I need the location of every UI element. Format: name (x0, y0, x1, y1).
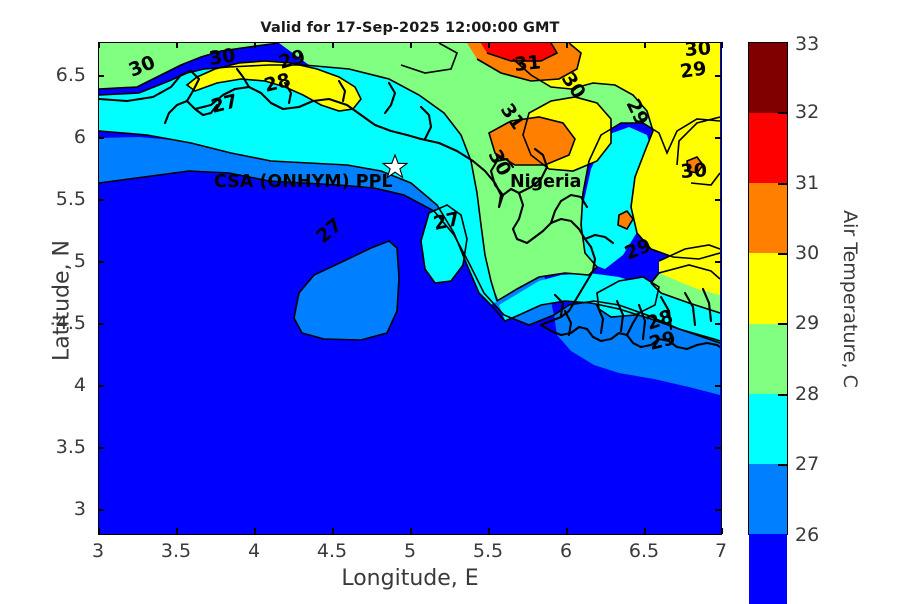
colorbar-label: Air Temperature, C (839, 149, 861, 449)
y-tick-label: 3 (30, 498, 86, 520)
x-tick-label: 4.5 (317, 540, 347, 562)
x-tick-label: 4 (248, 540, 260, 562)
colorbar-tick-label: 32 (795, 101, 819, 123)
nigeria-label: Nigeria (510, 172, 581, 192)
colorbar-tick-label: 30 (795, 242, 819, 264)
x-tick-label: 5.5 (473, 540, 503, 562)
colorbar-tick-label: 29 (795, 312, 819, 334)
csa-onhym-ppl-label: CSA (ONHYM) PPL (214, 172, 393, 192)
x-tick-label: 7 (715, 540, 727, 562)
colorbar-band-30-31 (749, 183, 787, 253)
colorbar-band-31-32 (749, 113, 787, 183)
colorbar-band-28-29 (749, 324, 787, 394)
colorbar-band-below-26 (749, 534, 787, 604)
x-tick-label: 3.5 (161, 540, 191, 562)
x-tick-label: 3 (92, 540, 104, 562)
y-axis-label: Latitude, N (50, 161, 75, 441)
x-tick-label: 6.5 (629, 540, 659, 562)
svg-text:30: 30 (680, 159, 708, 183)
y-tick-label: 6.5 (30, 64, 86, 86)
colorbar-tick-label: 28 (795, 383, 819, 405)
svg-text:31: 31 (513, 51, 542, 76)
x-tick-label: 6 (560, 540, 572, 562)
colorbar-band-26-27 (749, 464, 787, 534)
colorbar (748, 42, 788, 535)
colorbar-band-32-33 (749, 43, 787, 113)
x-tick-label: 5 (404, 540, 416, 562)
colorbar-band-27-28 (749, 394, 787, 464)
temperature-contour-field: 30 30 29 28 27 31 30 29 30 29 31 30 30 2… (99, 43, 720, 533)
x-axis-label: Longitude, E (98, 566, 722, 591)
colorbar-tick-label: 27 (795, 453, 819, 475)
contour-plot-area[interactable]: 30 30 29 28 27 31 30 29 30 29 31 30 30 2… (98, 42, 722, 535)
figure-root: Valid for 17-Sep-2025 12:00:00 GMT (0, 0, 900, 600)
svg-text:29: 29 (679, 57, 708, 82)
y-tick-label: 6 (30, 126, 86, 148)
svg-text:30: 30 (208, 44, 237, 69)
colorbar-tick-label: 26 (795, 524, 819, 546)
colorbar-tick-label: 31 (795, 172, 819, 194)
colorbar-band-29-30 (749, 253, 787, 323)
chart-title: Valid for 17-Sep-2025 12:00:00 GMT (98, 20, 722, 36)
colorbar-tick-label: 33 (795, 33, 819, 55)
